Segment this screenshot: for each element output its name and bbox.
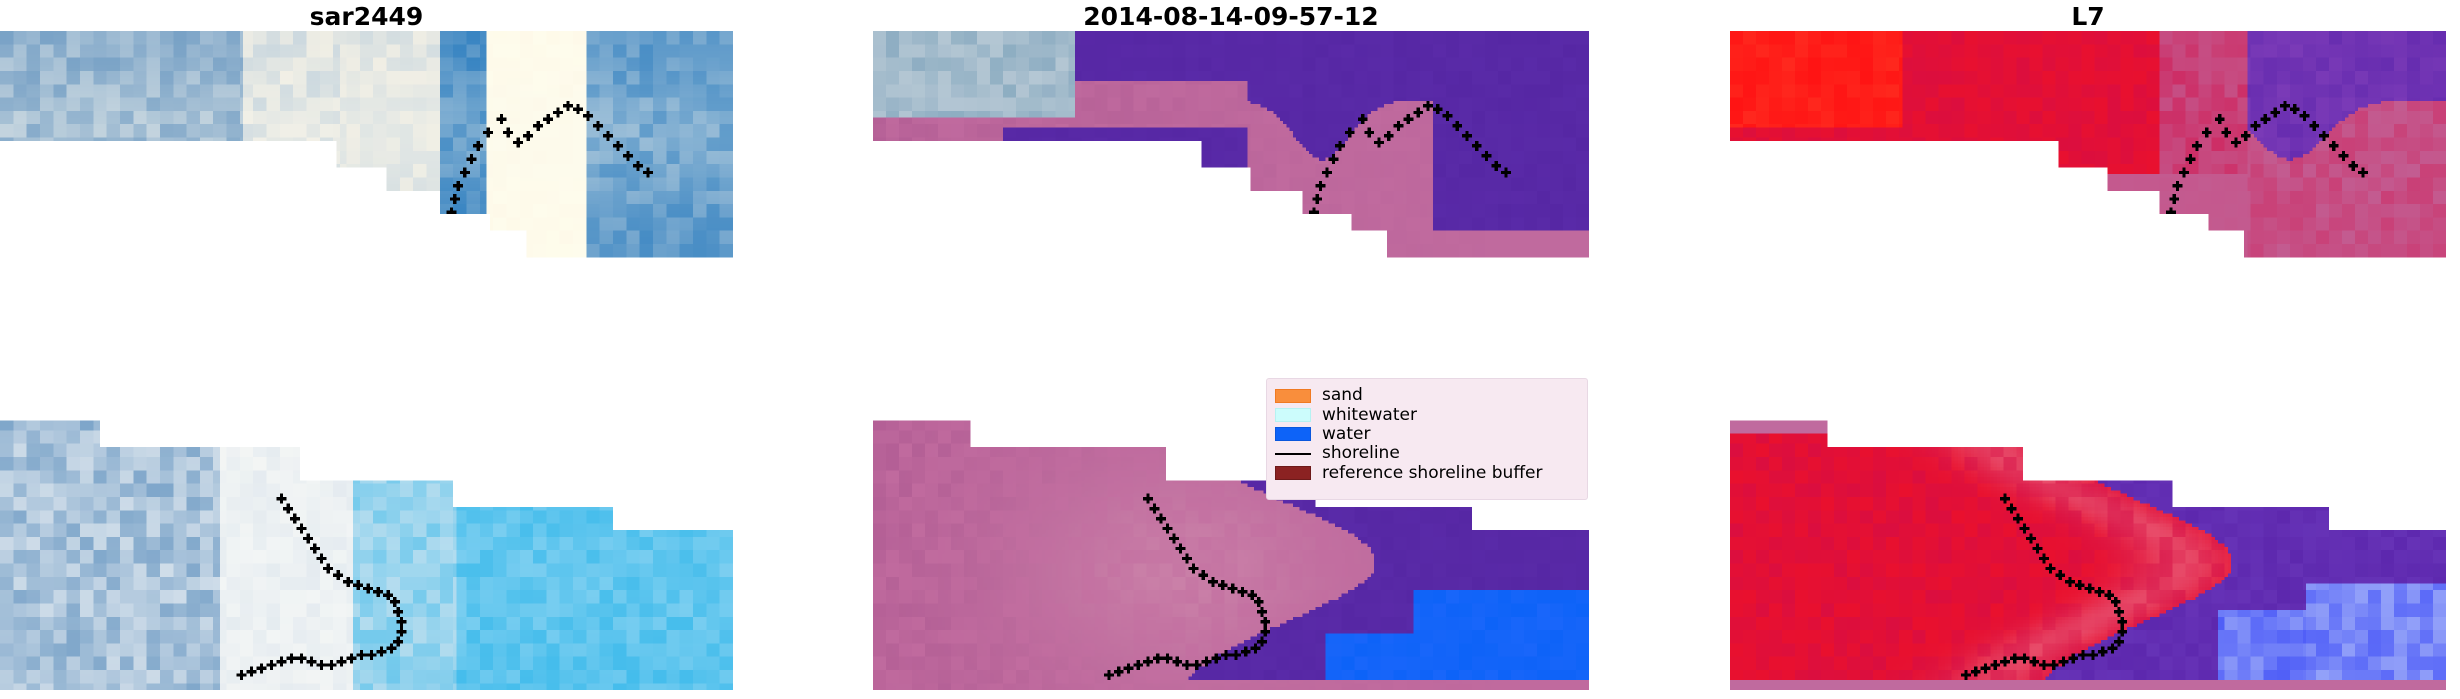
shoreline-line-icon xyxy=(1275,447,1311,461)
legend-label-reference-buffer: reference shoreline buffer xyxy=(1322,464,1543,483)
sand-swatch-icon xyxy=(1275,389,1311,403)
axes-sar2449 xyxy=(0,31,733,690)
reference-buffer-swatch-icon xyxy=(1275,466,1311,480)
panel-l7: L7 xyxy=(1730,0,2446,699)
legend-label-sand: sand xyxy=(1322,386,1363,405)
legend-item-whitewater: whitewater xyxy=(1275,405,1578,424)
legend-item-shoreline: shoreline xyxy=(1275,444,1578,463)
axes-date xyxy=(873,31,1589,690)
legend-item-water: water xyxy=(1275,425,1578,444)
raster-sar2449 xyxy=(0,31,733,690)
water-swatch-icon xyxy=(1275,427,1311,441)
whitewater-swatch-icon xyxy=(1275,408,1311,422)
raster-date xyxy=(873,31,1589,690)
panel-sar2449: sar2449 xyxy=(0,0,733,699)
legend-label-shoreline: shoreline xyxy=(1322,444,1400,463)
raster-l7 xyxy=(1730,31,2446,690)
legend-item-sand: sand xyxy=(1275,386,1578,405)
legend-label-water: water xyxy=(1322,425,1370,444)
legend-label-whitewater: whitewater xyxy=(1322,406,1417,425)
panel-title-sar2449: sar2449 xyxy=(0,2,733,32)
panel-title-date: 2014-08-14-09-57-12 xyxy=(873,2,1589,32)
panel-2014-08-14-09-57-12: 2014-08-14-09-57-12 xyxy=(873,0,1589,699)
axes-l7 xyxy=(1730,31,2446,690)
legend: sand whitewater water shoreline referenc… xyxy=(1266,378,1588,500)
figure-root: sar2449 2014-08-14-09-57-12 L7 sand xyxy=(0,0,2460,699)
panel-title-l7: L7 xyxy=(1730,2,2446,32)
legend-item-reference-buffer: reference shoreline buffer xyxy=(1275,464,1578,483)
